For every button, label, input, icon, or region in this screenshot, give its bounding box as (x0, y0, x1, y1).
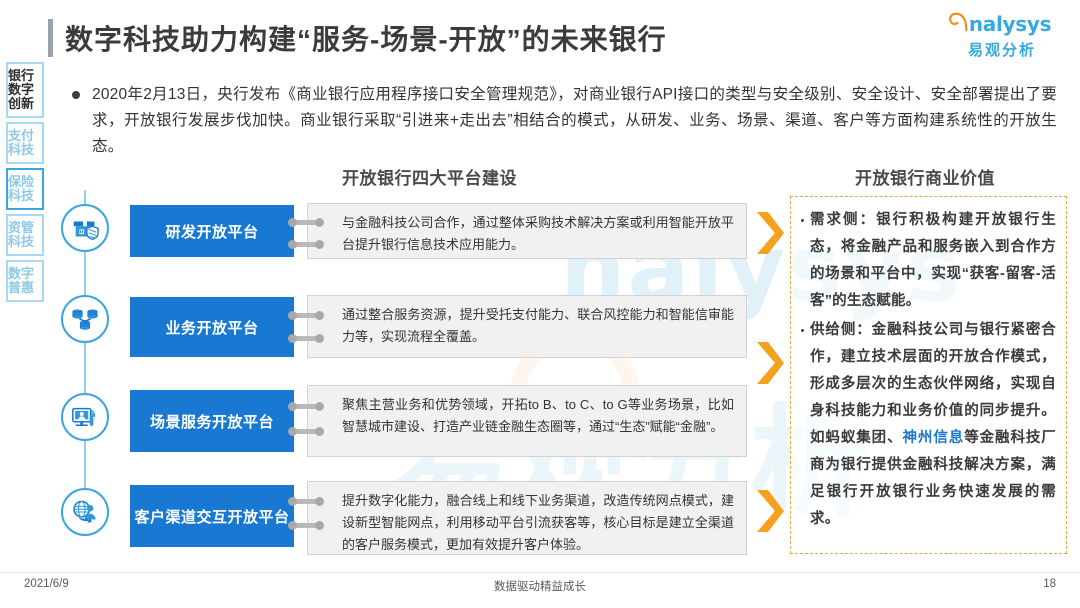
title-rule (48, 19, 53, 57)
chevron-right-icon-2 (755, 340, 785, 386)
value-panel: 需求侧：银行积极构建开放银行生态，将金融产品和服务嵌入到合作方的场景和平台中，实… (790, 196, 1067, 554)
platform-icon-2 (61, 295, 109, 343)
platform-name-1: 研发开放平台 (165, 221, 258, 242)
value-bullet-icon (801, 219, 804, 222)
sidebar-item-payment-tech[interactable]: 支付科技 (6, 122, 44, 164)
bolt-connector-3b (288, 427, 324, 436)
platform-name-box-3[interactable]: 场景服务开放平台 (130, 390, 294, 452)
analysys-logo: nalysys 易观分析 (942, 12, 1062, 60)
platform-name-box-4[interactable]: 客户渠道交互开放平台 (130, 485, 294, 547)
platform-desc-4: 提升数字化能力，融合线上和线下业务渠道，改造传统网点模式，建设新型智能网点，利用… (342, 493, 734, 552)
globe-user-icon (70, 497, 100, 527)
platform-icon-4 (61, 488, 109, 536)
platform-icon-1 (61, 204, 109, 252)
intro-paragraph: 2020年2月13日，央行发布《商业银行应用程序接口安全管理规范》，对商业银行A… (72, 82, 1057, 160)
sidebar-item-digital-inclusive[interactable]: 数字普惠 (6, 260, 44, 302)
value-text-supply-highlight: 神州信息 (903, 430, 965, 446)
platform-desc-box-1: 与金融科技公司合作，通过整体采购技术解决方案或利用智能开放平台提升银行信息技术应… (307, 203, 747, 259)
slide-title-text: 数字科技助力构建“服务-场景-开放”的未来银行 (65, 18, 667, 58)
platform-icon-3 (61, 393, 109, 441)
page-title: 数字科技助力构建“服务-场景-开放”的未来银行 (48, 18, 667, 58)
slide-root: nalysys 易观分析 数字科技助力构建“服务-场景-开放”的未来银行 nal… (0, 0, 1080, 608)
bolt-connector-3a (288, 402, 324, 411)
value-text-supply: 供给侧：金融科技公司与银行紧密合作，建立技术层面的开放合作模式，形成多层次的生态… (810, 317, 1056, 533)
database-merge-icon (70, 304, 100, 334)
sidebar-item-label: 银行数字创新 (8, 69, 42, 111)
chevron-right-icon-3 (755, 488, 785, 534)
value-item-demand-side: 需求侧：银行积极构建开放银行生态，将金融产品和服务嵌入到合作方的场景和平台中，实… (801, 207, 1056, 315)
value-bullet-icon (801, 329, 804, 332)
platform-name-4: 客户渠道交互开放平台 (134, 506, 289, 527)
intro-text: 2020年2月13日，央行发布《商业银行应用程序接口安全管理规范》，对商业银行A… (92, 82, 1057, 160)
logo-arc-icon (948, 11, 970, 33)
logo-chinese: 易观分析 (942, 39, 1062, 60)
side-nav[interactable]: 银行数字创新 支付科技 保险科技 资管科技 数字普惠 (6, 62, 44, 302)
footer-slogan: 数据驱动精益成长 (0, 578, 1080, 594)
sidebar-item-insurance-tech[interactable]: 保险科技 (6, 168, 44, 210)
bolt-connector-1a (288, 218, 324, 227)
sidebar-item-asset-mgmt-tech[interactable]: 资管科技 (6, 214, 44, 256)
package-shield-icon (70, 213, 100, 243)
footer-page-number: 18 (1043, 578, 1056, 590)
bolt-connector-1b (288, 240, 324, 249)
platform-name-box-1[interactable]: 研发开放平台 (130, 205, 294, 257)
platform-desc-1: 与金融科技公司合作，通过整体采购技术解决方案或利用智能开放平台提升银行信息技术应… (342, 215, 734, 252)
sidebar-item-bank-digital-innovation[interactable]: 银行数字创新 (6, 62, 44, 118)
chevron-right-icon-1 (755, 210, 785, 256)
footer-divider (0, 572, 1080, 573)
bolt-connector-2b (288, 334, 324, 343)
platform-desc-box-2: 通过整合服务资源，提升受托支付能力、联合风控能力和智能信审能力等，实现流程全覆盖… (307, 295, 747, 358)
value-text-supply-pre: 供给侧：金融科技公司与银行紧密合作，建立技术层面的开放合作模式，形成多层次的生态… (810, 322, 1056, 446)
sidebar-item-label: 数字普惠 (8, 267, 42, 295)
left-column-heading: 开放银行四大平台建设 (342, 164, 517, 189)
platform-desc-box-4: 提升数字化能力，融合线上和线下业务渠道，改造传统网点模式，建设新型智能网点，利用… (307, 481, 747, 555)
platform-desc-box-3: 聚焦主营业务和优势领域，开拓to B、to C、to G等业务场景，比如智慧城市… (307, 385, 747, 457)
bolt-connector-2a (288, 311, 324, 320)
sidebar-item-label: 支付科技 (8, 129, 42, 157)
sidebar-item-label: 资管科技 (8, 221, 42, 249)
platform-name-box-2[interactable]: 业务开放平台 (130, 297, 294, 357)
platform-name-3: 场景服务开放平台 (150, 411, 274, 432)
screen-user-signal-icon (70, 402, 100, 432)
sidebar-item-label: 保险科技 (8, 175, 42, 203)
right-column-heading: 开放银行商业价值 (855, 164, 995, 189)
platform-desc-3: 聚焦主营业务和优势领域，开拓to B、to C、to G等业务场景，比如智慧城市… (342, 397, 734, 434)
platform-desc-2: 通过整合服务资源，提升受托支付能力、联合风控能力和智能信审能力等，实现流程全覆盖… (342, 307, 734, 344)
platform-name-2: 业务开放平台 (165, 317, 258, 338)
value-item-supply-side: 供给侧：金融科技公司与银行紧密合作，建立技术层面的开放合作模式，形成多层次的生态… (801, 317, 1056, 533)
bolt-connector-4b (288, 521, 324, 530)
value-text-demand: 需求侧：银行积极构建开放银行生态，将金融产品和服务嵌入到合作方的场景和平台中，实… (810, 207, 1056, 315)
bullet-dot-icon (72, 91, 80, 99)
bolt-connector-4a (288, 497, 324, 506)
